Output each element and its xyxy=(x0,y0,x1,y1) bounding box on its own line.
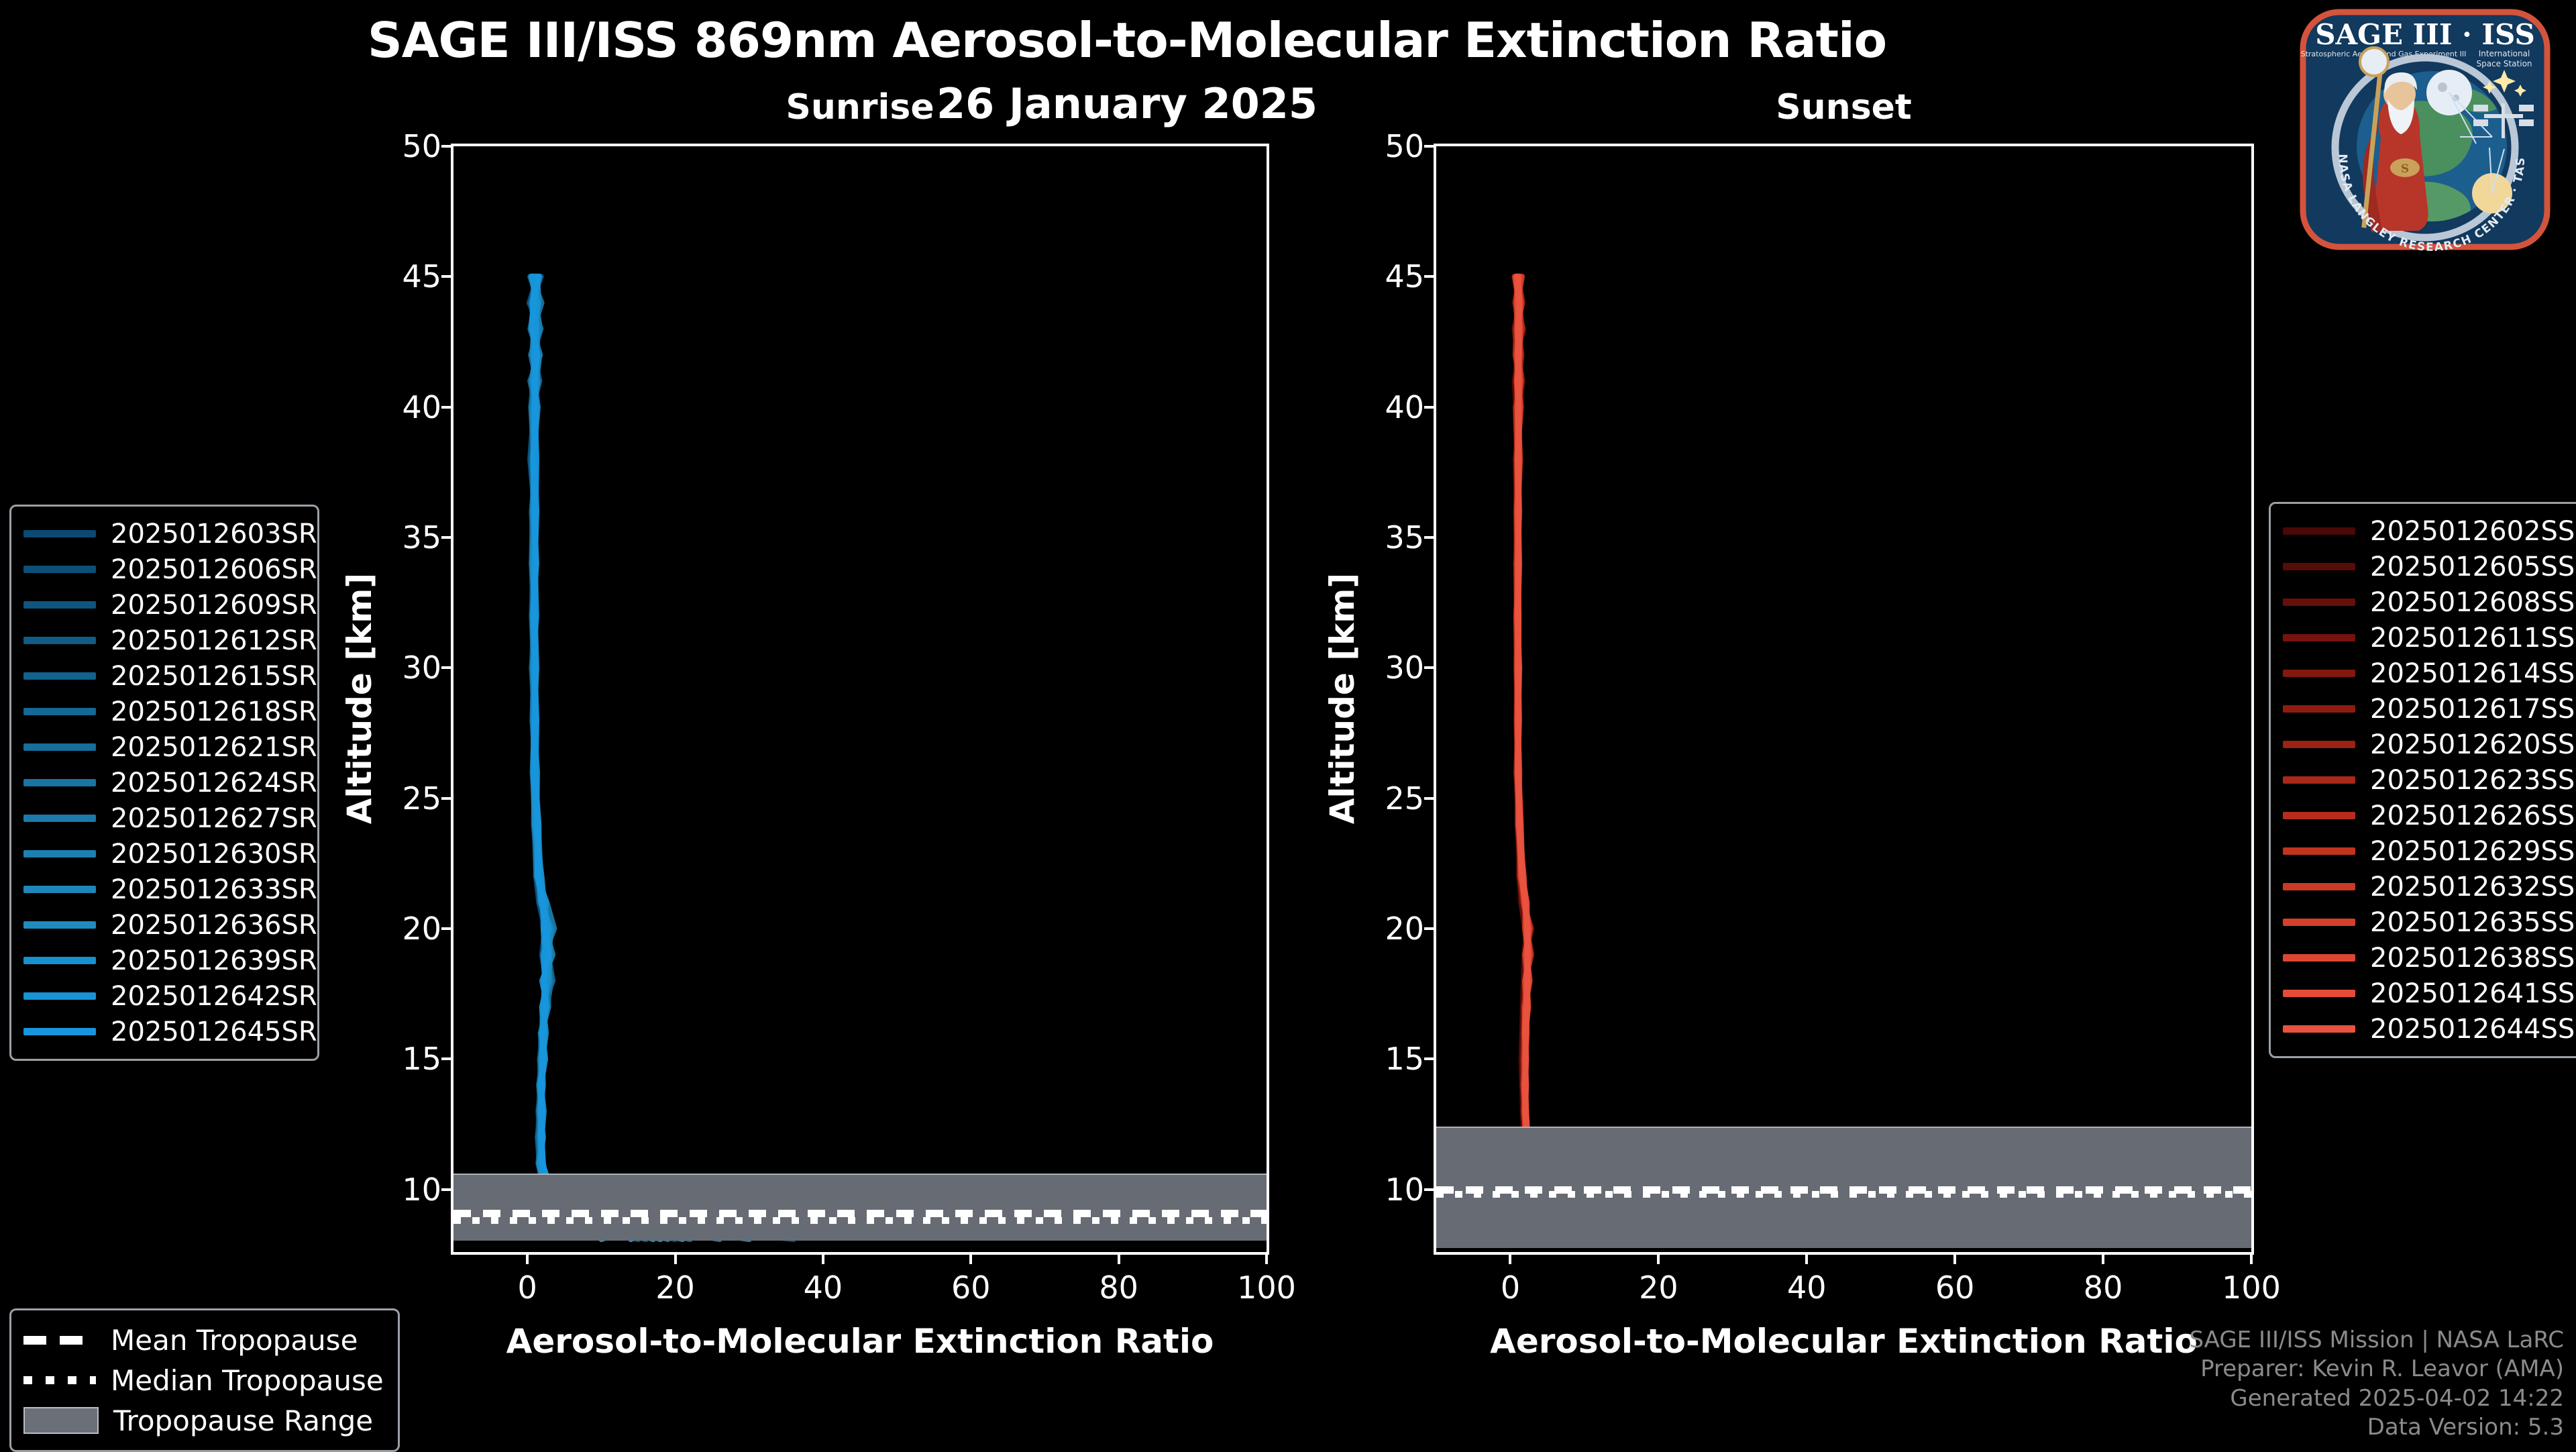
y-tick-mark xyxy=(1424,797,1436,800)
profile-line xyxy=(1517,276,1740,1244)
legend-color-swatch xyxy=(23,1028,96,1035)
sunset-x-axis-label: Aerosol-to-Molecular Extinction Ratio xyxy=(1436,1322,2251,1361)
profile-line xyxy=(1515,276,1748,1244)
sunset-profile-lines xyxy=(1436,146,2251,1252)
legend-row[interactable]: 2025012629SS xyxy=(2283,833,2576,869)
legend-color-swatch xyxy=(23,779,96,786)
y-tick-label: 35 xyxy=(402,519,441,556)
legend-event-label: 2025012608SS xyxy=(2370,587,2575,618)
x-tick-mark xyxy=(1953,1252,1956,1264)
y-tick-mark xyxy=(441,666,453,669)
legend-event-label: 2025012644SS xyxy=(2370,1014,2575,1045)
sunset-median-tropopause-line xyxy=(1436,1191,2251,1198)
sunrise-plot-area xyxy=(453,146,1267,1252)
footer-preparer: Preparer: Kevin R. Leavor (AMA) xyxy=(2189,1355,2564,1384)
legend-row[interactable]: 2025012627SR xyxy=(23,800,305,836)
legend-event-label: 2025012641SS xyxy=(2370,978,2575,1009)
legend-event-label: 2025012621SR xyxy=(111,732,317,763)
legend-event-label: 2025012626SS xyxy=(2370,800,2575,831)
legend-color-swatch xyxy=(2283,670,2355,677)
profile-line xyxy=(1517,276,1851,1244)
sunrise-median-tropopause-line xyxy=(453,1217,1267,1224)
y-tick-label: 10 xyxy=(402,1172,441,1208)
y-tick-mark xyxy=(1424,275,1436,278)
sunrise-mean-tropopause-line xyxy=(453,1210,1267,1217)
legend-color-swatch xyxy=(23,708,96,715)
profile-line xyxy=(533,276,683,1239)
profile-line xyxy=(531,276,749,1239)
legend-color-swatch xyxy=(2283,883,2355,890)
profile-line xyxy=(1515,276,1777,1244)
legend-color-swatch xyxy=(23,601,96,609)
profile-line xyxy=(1515,276,1777,1244)
footer-generated: Generated 2025-04-02 14:22 xyxy=(2189,1384,2564,1414)
x-tick-label: 100 xyxy=(2222,1269,2281,1306)
legend-row[interactable]: 2025012615SR xyxy=(23,658,305,694)
y-tick-mark xyxy=(1424,406,1436,409)
legend-color-swatch xyxy=(23,743,96,751)
x-tick-label: 100 xyxy=(1237,1269,1296,1306)
profile-line xyxy=(531,276,690,1239)
y-tick-mark xyxy=(441,927,453,930)
y-tick-label: 30 xyxy=(1385,650,1424,686)
y-tick-mark xyxy=(1424,666,1436,669)
profile-line xyxy=(1515,276,1733,1244)
legend-row[interactable]: 2025012603SR xyxy=(23,516,305,552)
x-tick-label: 40 xyxy=(1787,1269,1827,1306)
svg-text:S: S xyxy=(2401,162,2409,176)
patch-subtitle-right-1: International xyxy=(2479,49,2530,58)
legend-event-label: 2025012611SS xyxy=(2370,623,2575,654)
y-tick-label: 20 xyxy=(402,911,441,947)
x-tick-mark xyxy=(1657,1252,1660,1264)
profile-line xyxy=(530,276,676,1239)
profile-line xyxy=(1516,276,1836,1244)
x-tick-mark xyxy=(1805,1252,1808,1264)
profile-line xyxy=(1516,276,1836,1244)
x-tick-mark xyxy=(969,1252,972,1264)
profile-line xyxy=(533,276,668,1239)
legend-color-swatch xyxy=(23,957,96,964)
legend-label-median-tropopause: Median Tropopause xyxy=(111,1364,384,1397)
legend-row[interactable]: 2025012636SR xyxy=(23,907,305,943)
x-tick-mark xyxy=(1509,1252,1511,1264)
y-tick-mark xyxy=(441,145,453,148)
legend-color-swatch xyxy=(23,886,96,893)
legend-row[interactable]: 2025012611SS xyxy=(2283,620,2576,656)
legend-row[interactable]: 2025012614SS xyxy=(2283,656,2576,691)
legend-row[interactable]: 2025012644SS xyxy=(2283,1011,2576,1047)
legend-color-swatch xyxy=(2283,847,2355,855)
legend-color-swatch xyxy=(2283,954,2355,962)
legend-event-label: 2025012618SR xyxy=(111,696,317,727)
y-tick-label: 20 xyxy=(1385,911,1424,947)
legend-event-label: 2025012614SS xyxy=(2370,658,2575,689)
legend-color-swatch xyxy=(2283,563,2355,570)
profile-line xyxy=(532,276,668,1239)
legend-row-tropopause-range[interactable]: Tropopause Range xyxy=(23,1400,386,1441)
patch-title: SAGE III · ISS xyxy=(2315,18,2535,51)
x-tick-mark xyxy=(1118,1252,1120,1264)
y-tick-label: 25 xyxy=(1385,780,1424,817)
sunrise-profile-lines xyxy=(453,146,1267,1252)
x-tick-label: 40 xyxy=(804,1269,843,1306)
legend-event-label: 2025012633SR xyxy=(111,874,317,905)
legend-row-mean-tropopause[interactable]: Mean Tropopause xyxy=(23,1320,386,1360)
legend-event-label: 2025012632SS xyxy=(2370,872,2575,902)
legend-row[interactable]: 2025012620SS xyxy=(2283,727,2576,762)
legend-event-label: 2025012603SR xyxy=(111,519,317,550)
legend-event-label: 2025012612SR xyxy=(111,625,317,656)
profile-line xyxy=(1516,276,1925,1244)
y-tick-label: 25 xyxy=(402,780,441,817)
legend-event-label: 2025012624SR xyxy=(111,768,317,798)
y-tick-label: 40 xyxy=(1385,389,1424,425)
sunrise-plot[interactable]: 101520253035404550 020406080100 Aerosol-… xyxy=(451,144,1269,1255)
x-tick-label: 0 xyxy=(518,1269,537,1306)
legend-row-median-tropopause[interactable]: Median Tropopause xyxy=(23,1360,386,1400)
profile-line xyxy=(531,276,639,1239)
sunrise-x-axis-label: Aerosol-to-Molecular Extinction Ratio xyxy=(453,1322,1267,1361)
x-tick-label: 0 xyxy=(1501,1269,1520,1306)
legend-event-label: 2025012606SR xyxy=(111,554,317,585)
legend-color-swatch xyxy=(2283,634,2355,641)
legend-event-label: 2025012629SS xyxy=(2370,836,2575,867)
legend-row[interactable]: 2025012642SR xyxy=(23,978,305,1014)
legend-event-label: 2025012605SS xyxy=(2370,552,2575,582)
legend-color-swatch xyxy=(2283,990,2355,997)
legend-event-label: 2025012645SR xyxy=(111,1017,317,1047)
profile-line xyxy=(533,276,661,1239)
profile-line xyxy=(1516,276,1725,1244)
legend-color-swatch xyxy=(23,530,96,537)
x-tick-mark xyxy=(526,1252,529,1264)
y-tick-label: 45 xyxy=(1385,258,1424,295)
y-tick-mark xyxy=(441,1188,453,1191)
legend-event-label: 2025012642SR xyxy=(111,981,317,1012)
x-tick-label: 80 xyxy=(1099,1269,1138,1306)
dashed-line-icon xyxy=(23,1336,96,1345)
sunrise-panel-title: Sunrise xyxy=(451,87,1269,127)
y-tick-mark xyxy=(441,1057,453,1060)
x-tick-mark xyxy=(2102,1252,2104,1264)
profile-line xyxy=(531,276,661,1239)
legend-event-label: 2025012627SR xyxy=(111,803,317,834)
legend-event-label: 2025012609SR xyxy=(111,590,317,621)
shaded-band-icon xyxy=(23,1407,99,1434)
legend-event-label: 2025012636SR xyxy=(111,910,317,941)
legend-color-swatch xyxy=(2283,1025,2355,1033)
legend-label-tropopause-range: Tropopause Range xyxy=(113,1404,373,1437)
legend-row[interactable]: 2025012618SR xyxy=(23,694,305,729)
legend-color-swatch xyxy=(2283,527,2355,535)
x-tick-mark xyxy=(674,1252,677,1264)
x-tick-label: 20 xyxy=(655,1269,695,1306)
legend-event-label: 2025012635SS xyxy=(2370,907,2575,938)
y-tick-label: 50 xyxy=(402,128,441,164)
legend-color-swatch xyxy=(2283,599,2355,606)
legend-row[interactable]: 2025012630SR xyxy=(23,836,305,872)
sunrise-y-axis-label: Altitude [km] xyxy=(340,564,379,833)
dotted-line-icon xyxy=(23,1376,96,1384)
legend-row[interactable]: 2025012626SS xyxy=(2283,798,2576,833)
legend-color-swatch xyxy=(23,921,96,929)
footer-data-version: Data Version: 5.3 xyxy=(2189,1413,2564,1443)
profile-line xyxy=(1517,276,1880,1244)
legend-event-label: 2025012620SS xyxy=(2370,729,2575,760)
legend-color-swatch xyxy=(23,992,96,1000)
legend-row[interactable]: 2025012612SR xyxy=(23,623,305,658)
sunrise-legend[interactable]: 2025012603SR2025012606SR2025012609SR2025… xyxy=(9,505,319,1061)
profile-line xyxy=(533,276,653,1239)
legend-color-swatch xyxy=(2283,705,2355,713)
x-tick-mark xyxy=(2250,1252,2253,1264)
profile-line xyxy=(1515,276,1911,1244)
legend-row[interactable]: 2025012621SR xyxy=(23,729,305,765)
footer-attribution: SAGE III/ISS Mission | NASA LaRC Prepare… xyxy=(2189,1326,2564,1443)
legend-color-swatch xyxy=(2283,812,2355,819)
sunset-legend[interactable]: 2025012602SS2025012605SS2025012608SS2025… xyxy=(2269,502,2576,1058)
sunrise-tropopause-range xyxy=(453,1174,1267,1240)
y-tick-label: 35 xyxy=(1385,519,1424,556)
profile-line xyxy=(1515,276,1762,1244)
sage-iii-iss-mission-patch-logo: SAGE III · ISS Stratospheric Aerosol and… xyxy=(2291,5,2559,251)
legend-row[interactable]: 2025012605SS xyxy=(2283,549,2576,584)
x-tick-label: 60 xyxy=(1935,1269,1975,1306)
x-tick-mark xyxy=(822,1252,824,1264)
legend-row[interactable]: 2025012617SS xyxy=(2283,691,2576,727)
legend-color-swatch xyxy=(23,637,96,644)
y-tick-mark xyxy=(1424,1057,1436,1060)
profile-line xyxy=(532,276,631,1239)
profile-line xyxy=(531,276,653,1239)
y-tick-mark xyxy=(441,275,453,278)
y-tick-mark xyxy=(441,536,453,539)
legend-row[interactable]: 2025012633SR xyxy=(23,872,305,907)
sunset-plot[interactable]: 101520253035404550 020406080100 Aerosol-… xyxy=(1434,144,2254,1255)
x-tick-label: 60 xyxy=(951,1269,991,1306)
footer-mission: SAGE III/ISS Mission | NASA LaRC xyxy=(2189,1326,2564,1355)
tropopause-legend[interactable]: Mean Tropopause Median Tropopause Tropop… xyxy=(9,1308,400,1452)
profile-line xyxy=(531,276,646,1239)
y-tick-label: 10 xyxy=(1385,1172,1424,1208)
y-tick-label: 15 xyxy=(1385,1041,1424,1077)
legend-event-label: 2025012615SR xyxy=(111,661,317,692)
legend-event-label: 2025012638SS xyxy=(2370,943,2575,974)
legend-color-swatch xyxy=(23,672,96,680)
legend-event-label: 2025012639SR xyxy=(111,945,317,976)
x-tick-label: 20 xyxy=(1639,1269,1678,1306)
legend-color-swatch xyxy=(23,850,96,858)
legend-row[interactable]: 2025012602SS xyxy=(2283,513,2576,549)
legend-color-swatch xyxy=(2283,776,2355,784)
legend-row[interactable]: 2025012635SS xyxy=(2283,904,2576,940)
x-tick-mark xyxy=(1265,1252,1268,1264)
x-tick-label: 80 xyxy=(2084,1269,2123,1306)
y-tick-label: 45 xyxy=(402,258,441,295)
y-tick-label: 30 xyxy=(402,650,441,686)
legend-row[interactable]: 2025012641SS xyxy=(2283,976,2576,1011)
profile-line xyxy=(1515,276,1703,1244)
legend-row[interactable]: 2025012638SS xyxy=(2283,940,2576,976)
legend-event-label: 2025012623SS xyxy=(2370,765,2575,796)
sunset-y-axis-label: Altitude [km] xyxy=(1323,564,1362,833)
y-tick-mark xyxy=(441,797,453,800)
legend-row[interactable]: 2025012609SR xyxy=(23,587,305,623)
y-tick-mark xyxy=(1424,536,1436,539)
y-tick-label: 15 xyxy=(402,1041,441,1077)
legend-color-swatch xyxy=(2283,919,2355,926)
sunset-plot-area xyxy=(1436,146,2251,1252)
profile-line xyxy=(1518,276,1815,1244)
legend-row[interactable]: 2025012606SR xyxy=(23,552,305,587)
y-tick-mark xyxy=(1424,145,1436,148)
page-title: SAGE III/ISS 869nm Aerosol-to-Molecular … xyxy=(0,12,2254,68)
legend-label-mean-tropopause: Mean Tropopause xyxy=(111,1324,358,1357)
y-tick-mark xyxy=(441,406,453,409)
sunset-panel-title: Sunset xyxy=(1434,87,2254,127)
legend-row[interactable]: 2025012632SS xyxy=(2283,869,2576,904)
legend-event-label: 2025012630SR xyxy=(111,839,317,870)
legend-row[interactable]: 2025012645SR xyxy=(23,1014,305,1049)
legend-event-label: 2025012602SS xyxy=(2370,516,2575,547)
legend-event-label: 2025012617SS xyxy=(2370,694,2575,725)
y-tick-label: 40 xyxy=(402,389,441,425)
y-tick-mark xyxy=(1424,1188,1436,1191)
legend-row[interactable]: 2025012608SS xyxy=(2283,584,2576,620)
y-tick-label: 50 xyxy=(1385,128,1424,164)
profile-line xyxy=(532,276,720,1239)
y-tick-mark xyxy=(1424,927,1436,930)
legend-row[interactable]: 2025012624SR xyxy=(23,765,305,800)
legend-color-swatch xyxy=(23,566,96,573)
legend-color-swatch xyxy=(2283,741,2355,748)
legend-color-swatch xyxy=(23,815,96,822)
patch-subtitle-right-2: Space Station xyxy=(2476,59,2532,68)
legend-row[interactable]: 2025012639SR xyxy=(23,943,305,978)
legend-row[interactable]: 2025012623SS xyxy=(2283,762,2576,798)
profile-line xyxy=(531,276,794,1239)
